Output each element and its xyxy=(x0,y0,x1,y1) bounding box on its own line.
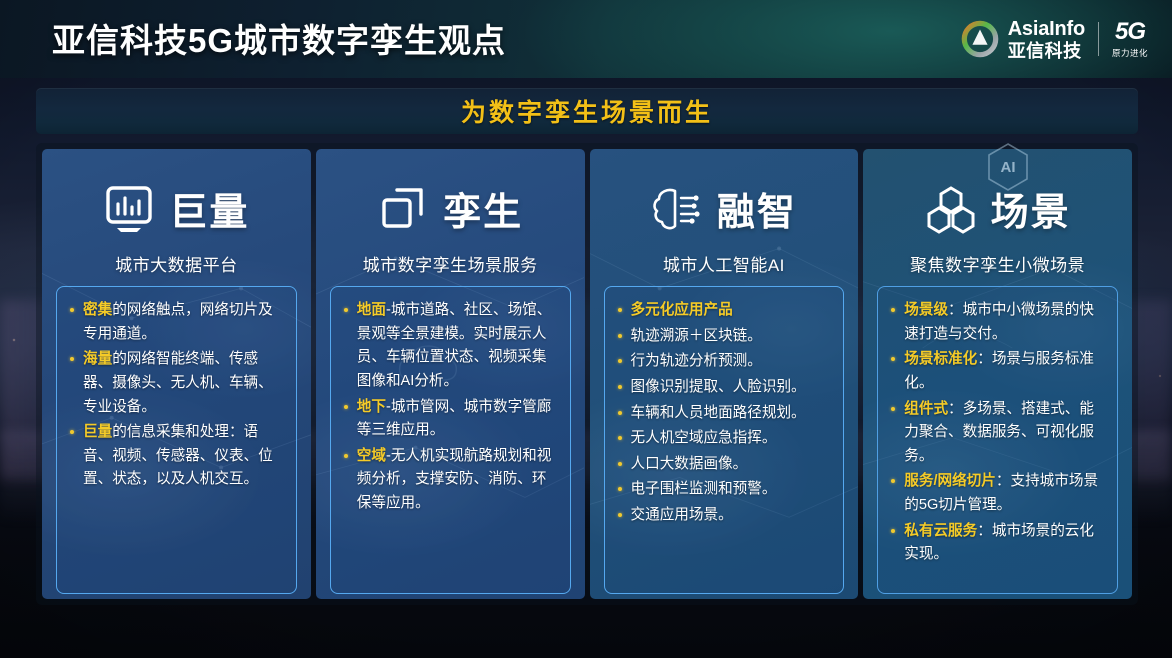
bar-chart-icon xyxy=(103,182,155,234)
slide-header: 亚信科技5G城市数字孪生观点 AsiaInfo 亚信科技 xyxy=(0,0,1172,78)
cards-container: 巨量 城市大数据平台 密集的网络触点，网络切片及专用通道。 海量的网络智能终端、… xyxy=(36,143,1138,605)
card-juliang[interactable]: 巨量 城市大数据平台 密集的网络触点，网络切片及专用通道。 海量的网络智能终端、… xyxy=(42,149,311,599)
card-bullet-box: 密集的网络触点，网络切片及专用通道。 海量的网络智能终端、传感器、摄像头、无人机… xyxy=(56,286,297,594)
list-item: 场景标准化：场景与服务标准化。 xyxy=(884,348,1107,395)
card-title: 巨量 xyxy=(169,181,249,236)
card-title: 融智 xyxy=(717,181,797,236)
page-title: 亚信科技5G城市数字孪生观点 xyxy=(52,14,506,62)
logo-5g-subtext: 原力进化 xyxy=(1112,47,1148,59)
card-content: 场景 聚焦数字孪生小微场景 场景级：城市中小微场景的快速打造与交付。 场景标准化… xyxy=(863,149,1132,599)
list-item: 多元化应用产品 xyxy=(611,299,834,323)
card-title: 孪生 xyxy=(443,181,523,236)
logo-en-text: AsiaInfo xyxy=(1008,19,1085,39)
list-item: 服务/网络切片：支持城市场景的5G切片管理。 xyxy=(884,470,1107,517)
list-item: 地面-城市道路、社区、场馆、景观等全景建模。实时展示人员、车辆位置状态、视频采集… xyxy=(337,299,560,394)
list-item: 电子围栏监测和预警。 xyxy=(611,478,834,502)
list-item: 行为轨迹分析预测。 xyxy=(611,350,834,374)
card-bullet-list: 地面-城市道路、社区、场馆、景观等全景建模。实时展示人员、车辆位置状态、视频采集… xyxy=(337,299,560,516)
card-bullet-box: 多元化应用产品 轨迹溯源＋区块链。 行为轨迹分析预测。 图像识别提取、人脸识别。… xyxy=(604,286,845,594)
asiainfo-logo: AsiaInfo 亚信科技 5G 原力进化 xyxy=(961,16,1148,62)
logo-divider xyxy=(1098,22,1099,56)
list-item: 交通应用场景。 xyxy=(611,504,834,528)
card-luansheng[interactable]: 孪生 城市数字孪生场景服务 地面-城市道路、社区、场馆、景观等全景建模。实时展示… xyxy=(316,149,585,599)
list-item: 场景级：城市中小微场景的快速打造与交付。 xyxy=(884,299,1107,346)
card-header: 孪生 xyxy=(330,167,571,249)
logo-5g-text: 5G xyxy=(1115,20,1145,44)
list-item: 图像识别提取、人脸识别。 xyxy=(611,376,834,400)
card-rongzhi[interactable]: 融智 城市人工智能AI 多元化应用产品 轨迹溯源＋区块链。 行为轨迹分析预测。 … xyxy=(590,149,859,599)
card-subtitle: 聚焦数字孪生小微场景 xyxy=(877,251,1118,276)
list-item: 私有云服务：城市场景的云化实现。 xyxy=(884,520,1107,567)
card-content: 孪生 城市数字孪生场景服务 地面-城市道路、社区、场馆、景观等全景建模。实时展示… xyxy=(316,149,585,599)
list-item: 轨迹溯源＋区块链。 xyxy=(611,325,834,349)
list-item: 巨量的信息采集和处理：语音、视频、传感器、仪表、位置、状态，以及人机交互。 xyxy=(63,421,286,492)
card-header: 融智 xyxy=(604,167,845,249)
banner-text: 为数字孪生场景而生 xyxy=(461,93,713,129)
hexagon-cluster-icon xyxy=(925,182,977,234)
card-bullet-list: 多元化应用产品 轨迹溯源＋区块链。 行为轨迹分析预测。 图像识别提取、人脸识别。… xyxy=(611,299,834,528)
list-item: 无人机空域应急指挥。 xyxy=(611,427,834,451)
card-content: 巨量 城市大数据平台 密集的网络触点，网络切片及专用通道。 海量的网络智能终端、… xyxy=(42,149,311,599)
asiainfo-ring-logo-icon xyxy=(961,20,999,58)
list-item: 车辆和人员地面路径规划。 xyxy=(611,402,834,426)
card-header: 场景 xyxy=(877,167,1118,249)
card-subtitle: 城市人工智能AI xyxy=(604,251,845,276)
logo-5g-badge: 5G 原力进化 xyxy=(1112,20,1148,59)
card-subtitle: 城市数字孪生场景服务 xyxy=(330,251,571,276)
list-item: 组件式：多场景、搭建式、能力聚合、数据服务、可视化服务。 xyxy=(884,398,1107,469)
ai-brain-circuit-icon xyxy=(651,182,703,234)
card-subtitle: 城市大数据平台 xyxy=(56,251,297,276)
list-item: 密集的网络触点，网络切片及专用通道。 xyxy=(63,299,286,346)
list-item: 海量的网络智能终端、传感器、摄像头、无人机、车辆、专业设备。 xyxy=(63,348,286,419)
twin-squares-icon xyxy=(377,182,429,234)
card-bullet-box: 地面-城市道路、社区、场馆、景观等全景建模。实时展示人员、车辆位置状态、视频采集… xyxy=(330,286,571,594)
slide-root: 亚信科技5G城市数字孪生观点 AsiaInfo 亚信科技 xyxy=(0,0,1172,658)
list-item: 人口大数据画像。 xyxy=(611,453,834,477)
card-title: 场景 xyxy=(991,181,1071,236)
logo-cn-text: 亚信科技 xyxy=(1008,42,1085,60)
list-item: 地下-城市管网、城市数字管廊等三维应用。 xyxy=(337,396,560,443)
card-changjing[interactable]: 场景 聚焦数字孪生小微场景 场景级：城市中小微场景的快速打造与交付。 场景标准化… xyxy=(863,149,1132,599)
section-banner: 为数字孪生场景而生 xyxy=(36,88,1138,134)
list-item: 空域-无人机实现航路规划和视频分析，支撑安防、消防、环保等应用。 xyxy=(337,445,560,516)
card-bullet-box: 场景级：城市中小微场景的快速打造与交付。 场景标准化：场景与服务标准化。 组件式… xyxy=(877,286,1118,594)
card-bullet-list: 场景级：城市中小微场景的快速打造与交付。 场景标准化：场景与服务标准化。 组件式… xyxy=(884,299,1107,567)
card-header: 巨量 xyxy=(56,167,297,249)
card-content: 融智 城市人工智能AI 多元化应用产品 轨迹溯源＋区块链。 行为轨迹分析预测。 … xyxy=(590,149,859,599)
card-bullet-list: 密集的网络触点，网络切片及专用通道。 海量的网络智能终端、传感器、摄像头、无人机… xyxy=(63,299,286,492)
